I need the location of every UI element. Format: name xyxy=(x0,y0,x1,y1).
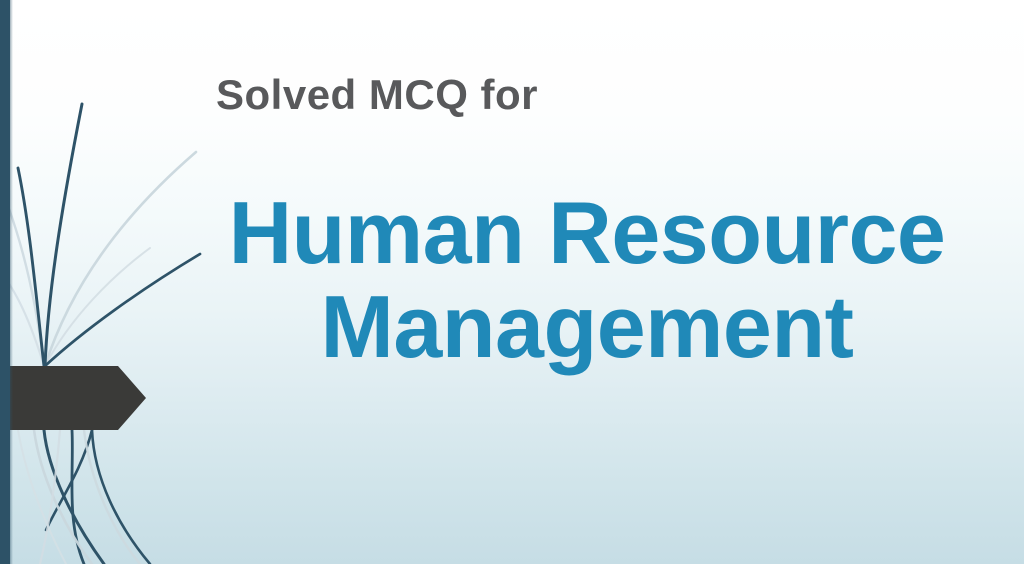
slide-title: Human Resource Management xyxy=(160,186,1014,374)
left-accent-bar xyxy=(0,0,10,564)
slide-title-line-2: Management xyxy=(160,280,1014,374)
presentation-slide: Solved MCQ for Human Resource Management xyxy=(0,0,1024,564)
slide-eyebrow-text: Solved MCQ for xyxy=(216,74,538,116)
slide-title-line-1: Human Resource xyxy=(160,186,1014,280)
left-accent-bar-highlight xyxy=(10,0,13,564)
chevron-banner-shape xyxy=(0,366,146,430)
